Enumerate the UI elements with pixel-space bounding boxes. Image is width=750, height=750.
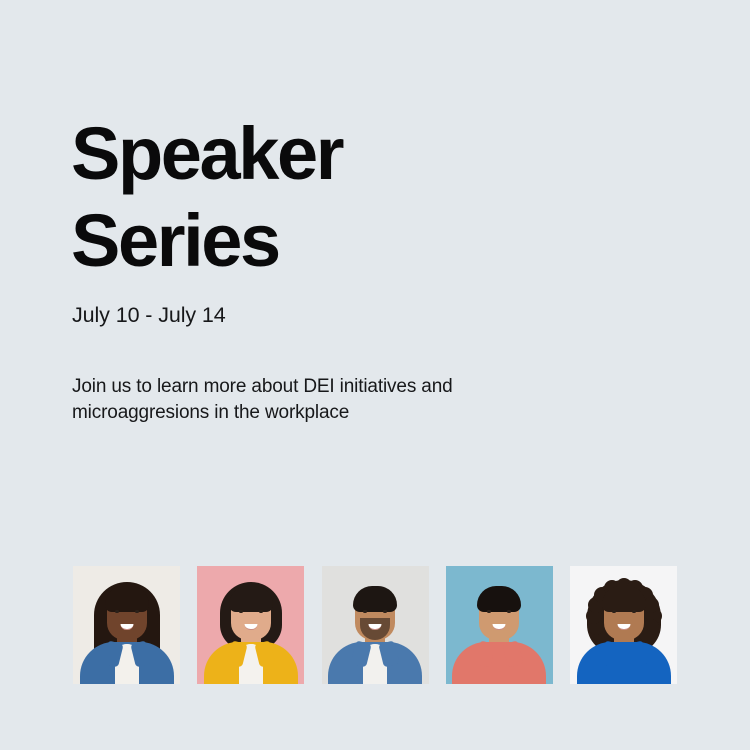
garment-shape [204,642,298,684]
eye-right-icon [135,610,139,613]
portrait-illustration [322,566,429,684]
garment-shape [452,642,546,684]
speaker-portrait-4 [446,566,553,684]
speaker-photo-strip [73,566,677,684]
portrait-illustration [73,566,180,684]
speaker-portrait-2 [197,566,304,684]
eye-right-icon [632,610,636,613]
eye-right-icon [383,610,387,613]
eye-right-icon [259,610,263,613]
poster-canvas: Speaker Series July 10 - July 14 Join us… [0,0,750,750]
eye-left-icon [487,610,491,613]
portrait-illustration [446,566,553,684]
portrait-illustration [570,566,677,684]
speaker-portrait-1 [73,566,180,684]
hair-top-shape [105,586,149,612]
hair-curl-shape [643,597,659,613]
eye-left-icon [363,610,367,613]
speaker-portrait-3 [322,566,429,684]
page-title: Speaker Series [71,110,631,284]
eye-left-icon [612,610,616,613]
hair-top-shape [229,586,273,612]
hair-top-shape [477,586,521,612]
eye-right-icon [507,610,511,613]
hair-top-shape [602,586,646,612]
eye-left-icon [239,610,243,613]
portrait-illustration [197,566,304,684]
eye-left-icon [115,610,119,613]
event-description: Join us to learn more about DEI initiati… [72,374,512,426]
garment-shape [328,642,422,684]
speaker-portrait-5 [570,566,677,684]
garment-shape [80,642,174,684]
garment-shape [577,642,671,684]
hair-top-shape [353,586,397,612]
event-dateline: July 10 - July 14 [72,303,226,328]
